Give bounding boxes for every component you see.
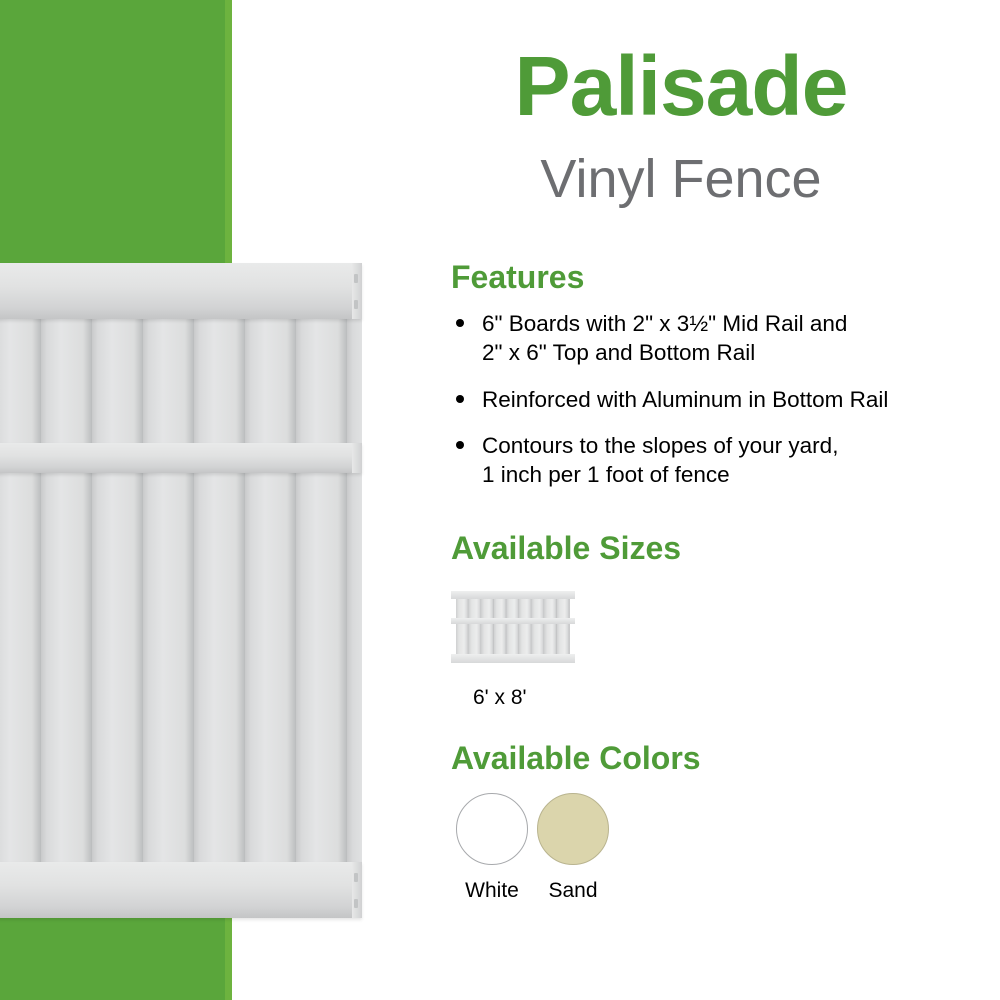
colors-heading: Available Colors: [451, 742, 701, 774]
features-heading: Features: [451, 261, 584, 293]
fence-mid-rail: [0, 443, 362, 473]
feature-list-item: Contours to the slopes of your yard, 1 i…: [451, 432, 991, 490]
fence-panel-icon: [451, 586, 575, 666]
product-infographic: Palisade Vinyl Fence Features 6" Boards …: [0, 0, 1000, 1000]
fence-top-rail: [0, 263, 362, 319]
features-list: 6" Boards with 2" x 3½" Mid Rail and 2" …: [451, 310, 991, 508]
product-subtitle: Vinyl Fence: [371, 152, 991, 206]
feature-text-line1: Reinforced with Aluminum in Bottom Rail: [482, 387, 888, 412]
thumb-mid-rail: [451, 618, 575, 624]
color-label-sand: Sand: [533, 879, 613, 903]
color-swatch-sand: [537, 793, 609, 865]
rail-endcap: [352, 263, 362, 319]
thumb-bottom-rail: [451, 654, 575, 663]
rail-notch-icon: [354, 899, 358, 908]
thumb-upper-boards: [456, 597, 570, 619]
color-label-white: White: [452, 879, 532, 903]
thumb-top-rail: [451, 591, 575, 599]
size-option: 6' x 8': [451, 586, 575, 666]
bullet-dot-icon: [456, 441, 464, 449]
thumb-lower-boards: [456, 623, 570, 657]
feature-text-line2: 2" x 6" Top and Bottom Rail: [482, 339, 991, 368]
rail-endcap: [352, 443, 362, 473]
feature-text-line1: Contours to the slopes of your yard,: [482, 433, 838, 458]
feature-text-line2: 1 inch per 1 foot of fence: [482, 461, 991, 490]
feature-text-line1: 6" Boards with 2" x 3½" Mid Rail and: [482, 311, 847, 336]
bullet-dot-icon: [456, 319, 464, 327]
rail-notch-icon: [354, 300, 358, 309]
color-swatch-white: [456, 793, 528, 865]
rail-notch-icon: [354, 274, 358, 283]
feature-list-item: Reinforced with Aluminum in Bottom Rail: [451, 386, 991, 415]
fence-boards: [0, 303, 362, 903]
size-label: 6' x 8': [473, 686, 527, 710]
rail-notch-icon: [354, 873, 358, 882]
rail-endcap: [352, 862, 362, 918]
bullet-dot-icon: [456, 395, 464, 403]
fence-panel-illustration: [0, 263, 372, 918]
content-column: Palisade Vinyl Fence Features 6" Boards …: [451, 0, 991, 1000]
color-option-sand: Sand: [533, 793, 613, 903]
fence-bottom-rail: [0, 862, 362, 918]
product-title: Palisade: [371, 44, 991, 128]
color-option-white: White: [452, 793, 532, 903]
feature-list-item: 6" Boards with 2" x 3½" Mid Rail and 2" …: [451, 310, 991, 368]
sizes-heading: Available Sizes: [451, 532, 681, 564]
